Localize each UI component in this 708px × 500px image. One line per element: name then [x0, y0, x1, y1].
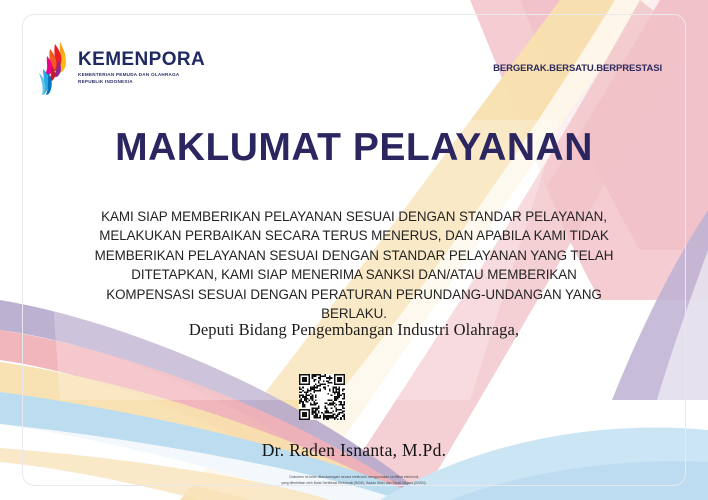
maklumat-body-text: KAMI SIAP MEMBERIKAN PELAYANAN SESUAI DE… [70, 207, 638, 323]
signatory-position-title: Deputi Bidang Pengembangan Industri Olah… [0, 320, 708, 340]
signer-name: Dr. Raden Isnanta, M.Pd. [0, 440, 708, 461]
electronic-signature-disclaimer: Dokumen ini telah ditandatangani secara … [0, 474, 708, 486]
maklumat-pelayanan-poster: KEMENPORA KEMENTERIAN PEMUDA DAN OLAHRAG… [0, 0, 708, 500]
body-line-3: MEMBERIKAN PELAYANAN SESUAI DENGAN STAND… [70, 246, 638, 265]
logo-subtitle-line1: KEMENTERIAN PEMUDA DAN OLAHRAGA [78, 72, 205, 79]
tagline: BERGERAK.BERSATU.BERPRESTASI [493, 63, 662, 74]
logo-text-block: KEMENPORA KEMENTERIAN PEMUDA DAN OLAHRAG… [78, 50, 205, 86]
logo-name: KEMENPORA [78, 50, 205, 69]
body-line-1: KAMI SIAP MEMBERIKAN PELAYANAN SESUAI DE… [70, 207, 638, 226]
page-title: MAKLUMAT PELAYANAN [0, 128, 708, 167]
kemenpora-logo: KEMENPORA KEMENTERIAN PEMUDA DAN OLAHRAG… [34, 40, 214, 98]
body-line-5: KOMPENSASI SESUAI DENGAN PERATURAN PERUN… [70, 285, 638, 304]
body-line-4: DITETAPKAN, KAMI SIAP MENERIMA SANKSI DA… [70, 265, 638, 284]
qr-code [299, 374, 345, 420]
kemenpora-torch-flame-icon [34, 40, 74, 96]
body-line-2: MELAKUKAN PERBAIKAN SECARA TERUS MENERUS… [70, 226, 638, 245]
logo-subtitle-line2: REPUBLIK INDONESIA [78, 79, 205, 86]
disclaimer-line-2: yang diterbitkan oleh Balai Sertifikasi … [0, 480, 708, 486]
